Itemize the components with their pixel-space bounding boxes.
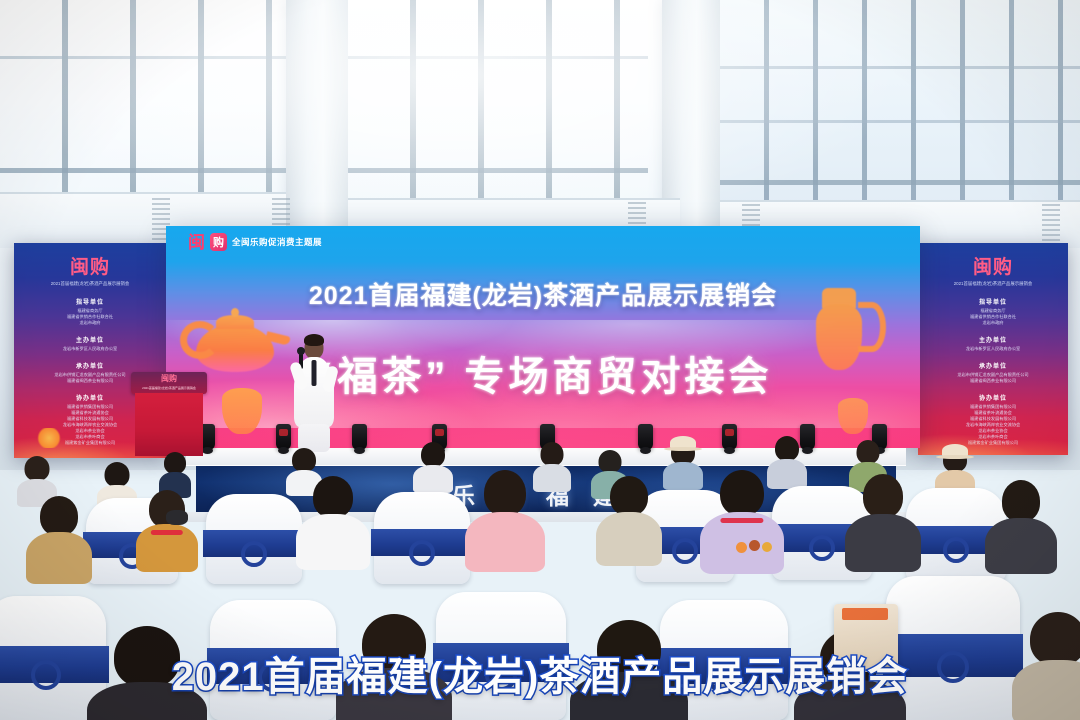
panel-block-right-1: 主办单位 龙岩市新罗区人民政府办公室 [918,335,1068,352]
person-head [720,470,764,516]
audience-person [600,476,658,564]
panel-block-right-2: 承办单位 龙岩市供销汇龙农副产品有限责任公司 福建省闽西茶业有限公司 [918,361,1068,384]
person-head [863,474,903,518]
small-vase-graphic [838,398,868,434]
lanyard [151,530,183,535]
chair-sash-knot [809,535,835,561]
person-head [105,462,130,487]
audience-person [140,490,194,568]
audience-person [666,436,700,490]
panel-block-line: 龙岩市政府 [918,320,1068,326]
sponsor-panel-right: 闽购 2021首届福建(龙岩)茶酒产品展示展销会 指导单位 福建省商务厅 福建省… [918,243,1068,455]
person-body [465,512,545,572]
panel-block-head: 指导单位 [14,297,166,306]
panel-logo-right: 闽购 [918,258,1068,277]
podium-body [135,393,203,456]
audience-person [470,470,540,570]
person-head [1002,480,1040,522]
panel-block-head: 承办单位 [14,361,166,370]
audience-person [990,480,1052,572]
person-body [296,514,370,570]
panel-block-line: 福建省闽西茶业有限公司 [918,378,1068,384]
person-body [985,518,1057,574]
audience-person [300,476,366,568]
badge-sticker-icon [749,540,760,551]
panel-block-line: 龙岩市新罗区人民政府办公室 [14,346,166,352]
brand-tagline: 全闽乐购促消费主题展 [232,236,322,248]
lanyard [720,518,763,523]
teapot-lid [216,315,254,329]
chair-sash-knot [672,538,698,564]
panel-logo-sub-left: 2021首届福建(龙岩)茶酒产品展示展销会 [14,281,166,287]
panel-block-left-0: 指导单位 福建省商务厅 福建省供销合作社联合社 龙岩市政府 [14,297,166,326]
stage-moving-light [638,424,653,450]
audience-person [416,442,450,492]
audience-person [30,496,88,582]
backdrop-headline: 2021首届福建(龙岩)茶酒产品展示展销会 [166,276,920,312]
person-body [413,465,453,493]
stage-backdrop: 闽 购 全闽乐购促消费主题展 2021首届福建(龙岩)茶酒产品展示展销会 “福茶… [166,226,920,448]
audience-person [850,474,916,570]
banquet-chair [206,494,302,584]
bag-label [842,608,888,620]
presenter-on-stage [288,336,340,452]
panel-block-head: 承办单位 [918,361,1068,370]
panel-block-head: 指导单位 [918,297,1068,306]
panel-block-line: 龙岩市政府 [14,320,166,326]
panel-block-left-1: 主办单位 龙岩市新罗区人民政府办公室 [14,335,166,352]
person-head [421,442,445,467]
chair-sash-knot [409,540,435,566]
person-head [857,440,880,464]
stage-moving-light [722,424,737,450]
person-body [845,514,921,572]
face-mask [166,510,188,525]
person-head [599,450,622,473]
badge-sticker-icon [736,542,747,553]
panel-block-right-0: 指导单位 福建省商务厅 福建省供销合作社联合社 龙岩市政府 [918,297,1068,326]
chair-sash-knot [241,541,267,567]
person-head [313,476,353,518]
person-head [484,470,526,516]
podium-sub-text: 2021首届福建(龙岩)茶酒产品展示展销会 [131,386,207,390]
person-head [292,448,316,472]
brand-mark-icon: 闽 [188,234,205,251]
podium-logo: 闽购 [131,375,207,383]
panel-logo-left: 闽购 [14,258,166,277]
presenter-hair [304,334,324,346]
brand-chip-icon: 购 [210,233,227,251]
person-cap [942,444,968,457]
person-cap [670,436,696,449]
audience-person [536,442,568,492]
wall-vent [1042,204,1060,248]
person-head [541,442,564,466]
panel-emblem-icon [36,428,62,448]
panel-block-head: 主办单位 [918,335,1068,344]
person-head [164,452,186,474]
audience-person [706,470,778,572]
panel-logo-sub-right: 2021首届福建(龙岩)茶酒产品展示展销会 [918,281,1068,287]
bottom-overlay-title: 2021首届福建(龙岩)茶酒产品展示展销会 [0,644,1080,702]
stage-moving-light [352,424,367,450]
podium-top: 闽购 2021首届福建(龙岩)茶酒产品展示展销会 [131,372,207,394]
presenter-collar-accent [312,360,317,386]
badge-sticker-icon [762,542,772,552]
banquet-chair [374,492,470,584]
chair-sash-knot [943,537,969,563]
event-photo-scene: 闽购 2021首届福建(龙岩)茶酒产品展示展销会 指导单位 福建省商务厅 福建省… [0,0,1080,720]
person-head [40,496,78,536]
person-head [25,456,50,481]
backdrop-subtitle: “福茶” 专场商贸对接会 [166,344,920,402]
person-head [610,476,648,516]
person-body [663,462,703,490]
person-head [775,436,799,461]
podium: 闽购 2021首届福建(龙岩)茶酒产品展示展销会 [131,372,207,456]
panel-block-head: 主办单位 [14,335,166,344]
panel-block-line: 龙岩市新罗区人民政府办公室 [918,346,1068,352]
person-body [26,532,92,584]
person-body [596,512,662,566]
backdrop-brand-lockup: 闽 购 全闽乐购促消费主题展 [188,233,322,251]
